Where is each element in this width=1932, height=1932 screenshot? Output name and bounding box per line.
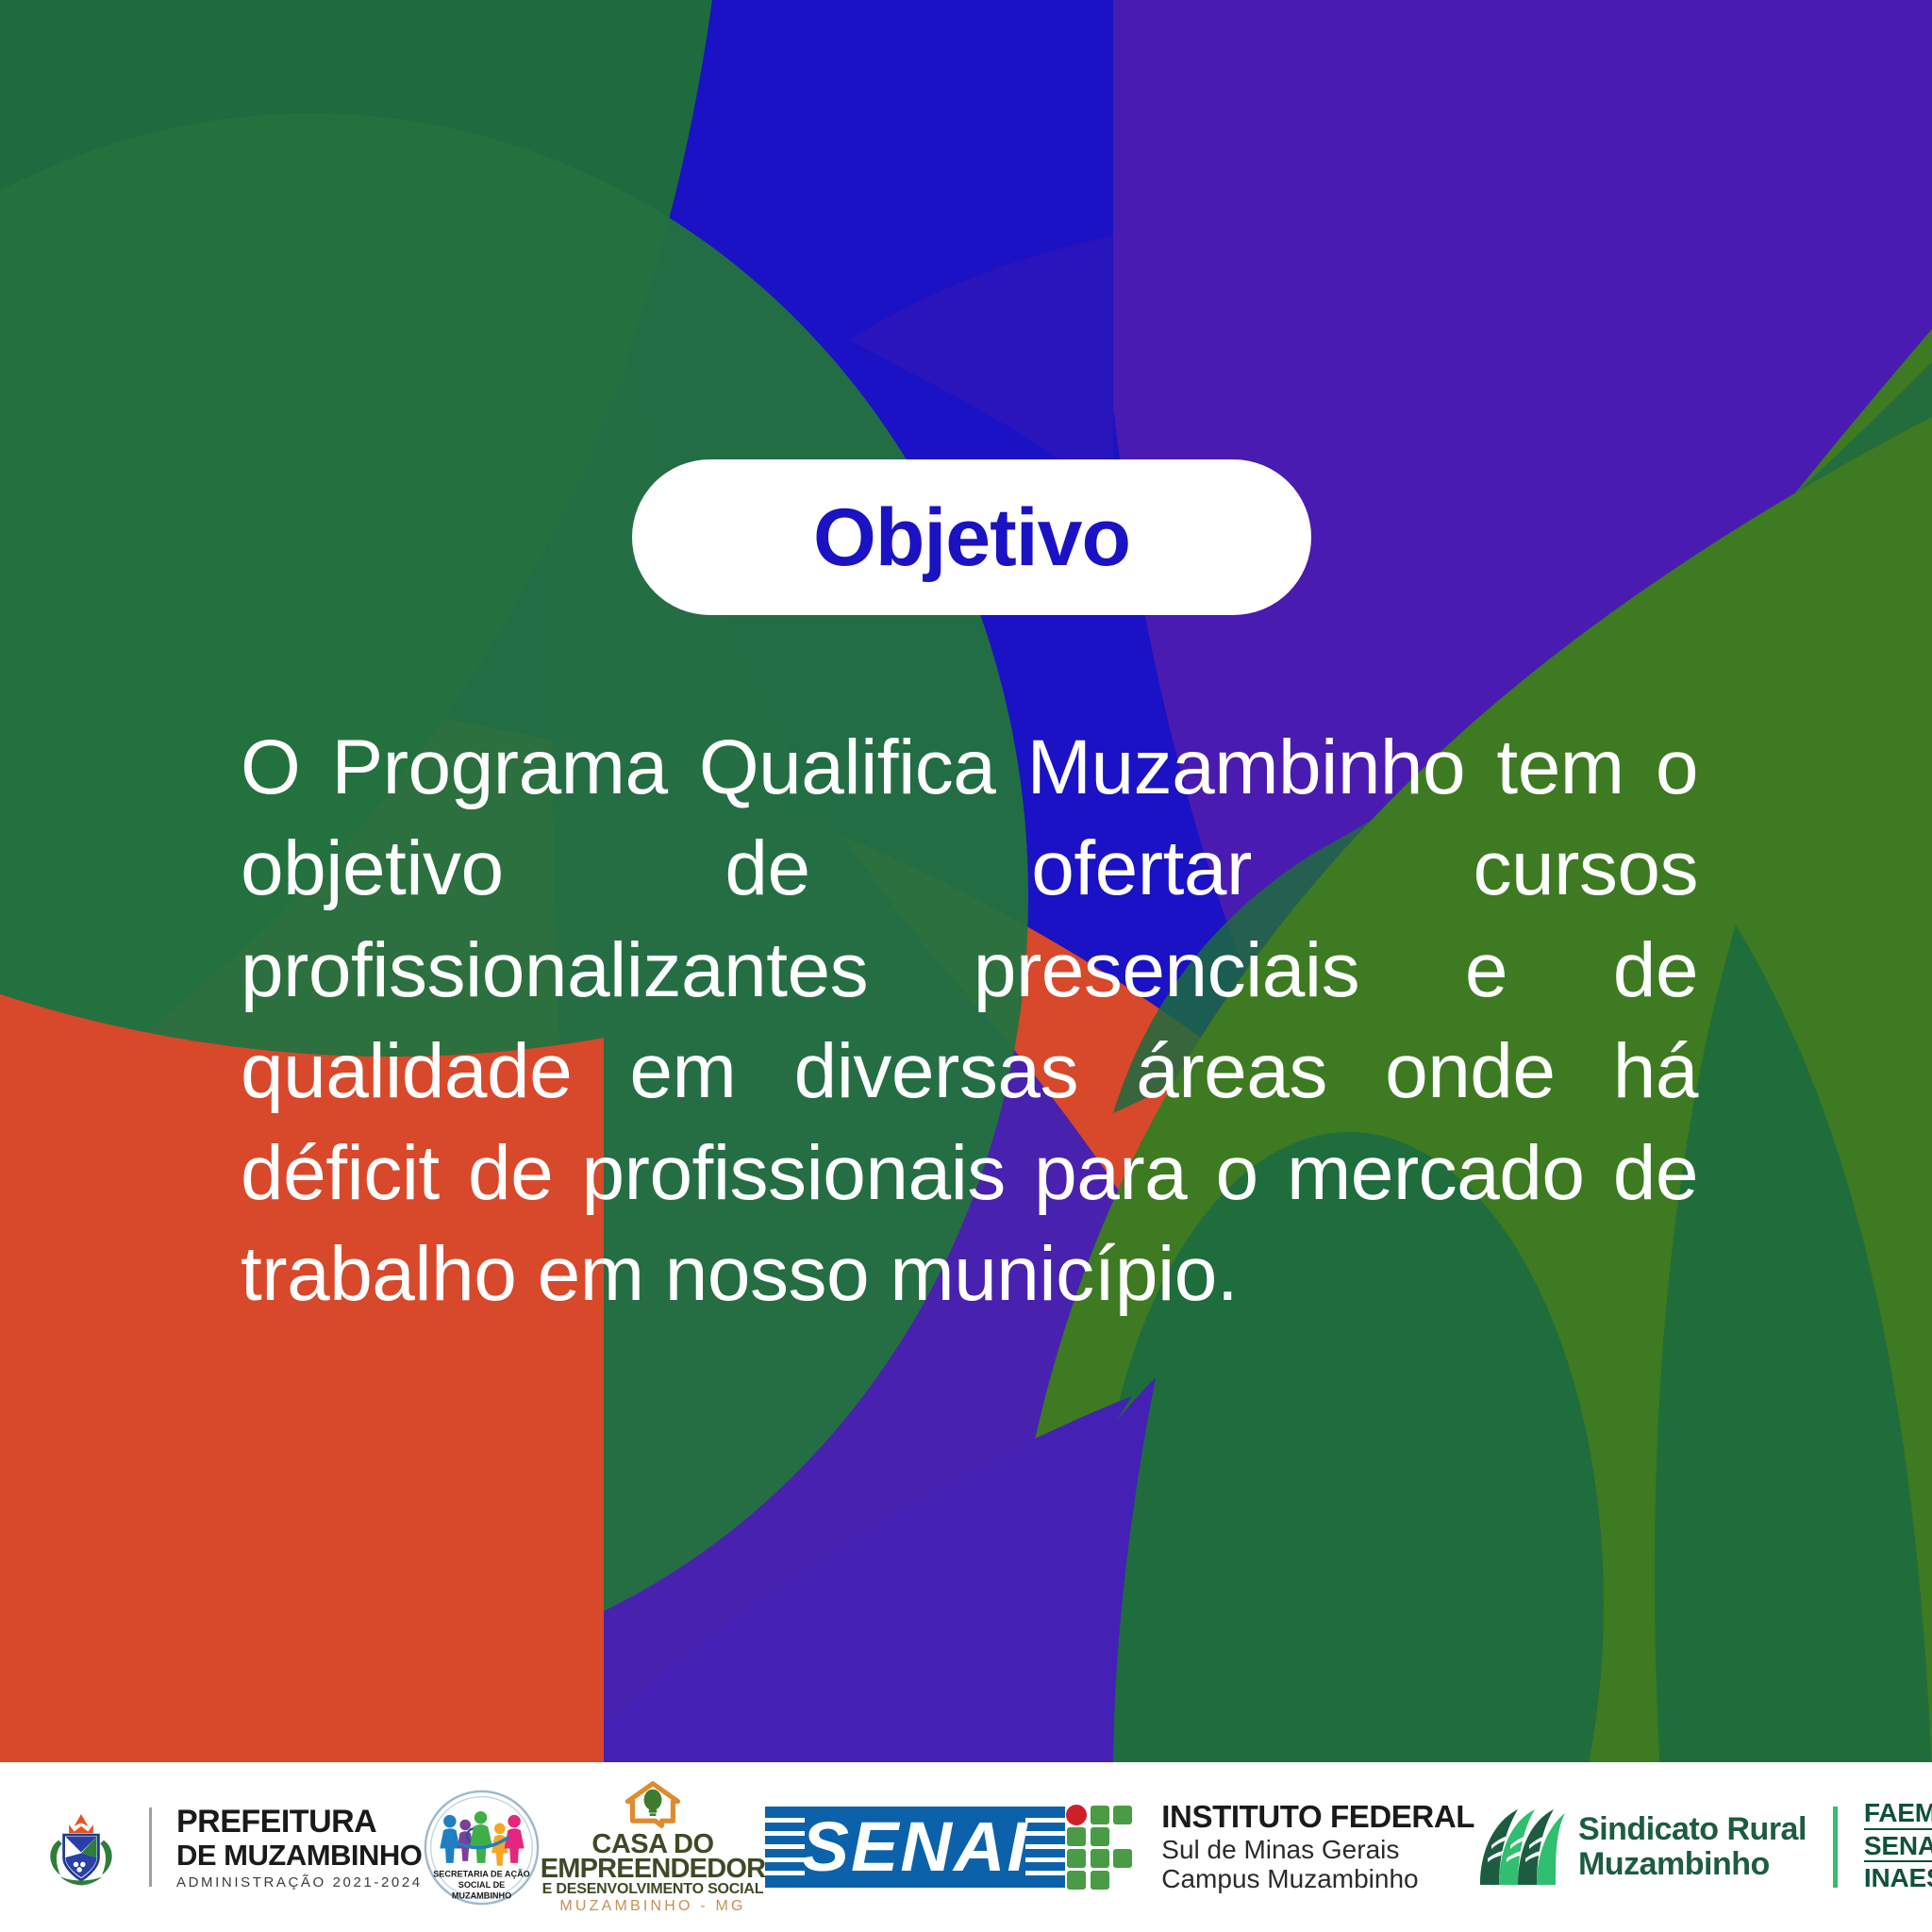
sindicato-badge-faemg: FAEMG bbox=[1864, 1799, 1932, 1829]
senai-left-bars bbox=[765, 1807, 805, 1888]
sindicato-line-1: Sindicato Rural bbox=[1578, 1812, 1807, 1847]
senai-wordmark: SENAI bbox=[802, 1812, 1029, 1882]
divider bbox=[149, 1807, 152, 1887]
prefeitura-line-1: PREFEITURA bbox=[176, 1806, 423, 1838]
logo-prefeitura-muzambinho: PREFEITURA DE MUZAMBINHO ADMINISTRAÇÃO 2… bbox=[38, 1804, 423, 1890]
senai-right-bars bbox=[1025, 1807, 1065, 1888]
logo-sindicato-rural: Sindicato Rural Muzambinho FAEMG SENAR I… bbox=[1474, 1799, 1932, 1894]
senai-badge: SENAI bbox=[765, 1807, 1065, 1888]
house-lightbulb-icon bbox=[625, 1780, 681, 1829]
secretaria-line-2: SOCIAL DE bbox=[458, 1879, 505, 1889]
logo-secretaria-acao-social: SECRETARIA DE AÇÃO SOCIAL DE MUZAMBINHO bbox=[423, 1789, 541, 1907]
sindicato-divider bbox=[1833, 1807, 1838, 1888]
logo-instituto-federal: INSTITUTO FEDERAL Sul de Minas Gerais Ca… bbox=[1065, 1800, 1474, 1894]
sindicato-badge-inaes: INAES bbox=[1864, 1864, 1932, 1892]
body-paragraph: O Programa Qualifica Muzambinho tem o ob… bbox=[241, 717, 1698, 1324]
instituto-federal-mark-icon bbox=[1065, 1804, 1146, 1890]
heading-pill: Objetivo bbox=[632, 459, 1311, 615]
prefeitura-line-3: ADMINISTRAÇÃO 2021-2024 bbox=[176, 1875, 423, 1890]
casa-line-2: EMPREENDEDOR bbox=[541, 1856, 766, 1883]
instituto-federal-line-2: Sul de Minas Gerais bbox=[1161, 1835, 1474, 1864]
poster-canvas: Objetivo O Programa Qualifica Muzambinho… bbox=[0, 0, 1932, 1932]
sindicato-badge-senar: SENAR bbox=[1864, 1832, 1932, 1862]
coat-of-arms-icon bbox=[38, 1804, 125, 1890]
logo-casa-do-empreendedor: CASA DO EMPREENDEDOR E DESENVOLVIMENTO S… bbox=[541, 1780, 766, 1914]
page-title: Objetivo bbox=[813, 497, 1130, 578]
logo-senai: SENAI bbox=[765, 1807, 1065, 1888]
wheat-leaf-icon bbox=[1474, 1806, 1565, 1889]
secretaria-seal-icon: SECRETARIA DE AÇÃO SOCIAL DE MUZAMBINHO bbox=[423, 1789, 541, 1907]
sindicato-line-2: Muzambinho bbox=[1578, 1847, 1807, 1882]
secretaria-line-1: SECRETARIA DE AÇÃO bbox=[433, 1869, 530, 1878]
secretaria-line-3: MUZAMBINHO bbox=[452, 1890, 511, 1900]
instituto-federal-line-3: Campus Muzambinho bbox=[1161, 1864, 1474, 1893]
instituto-federal-line-1: INSTITUTO FEDERAL bbox=[1161, 1800, 1474, 1835]
partner-logo-bar: PREFEITURA DE MUZAMBINHO ADMINISTRAÇÃO 2… bbox=[0, 1762, 1932, 1932]
casa-line-3: E DESENVOLVIMENTO SOCIAL bbox=[542, 1882, 764, 1897]
casa-line-4: MUZAMBINHO - MG bbox=[559, 1899, 745, 1914]
body-paragraph-text: O Programa Qualifica Muzambinho tem o ob… bbox=[241, 724, 1698, 1317]
prefeitura-line-2: DE MUZAMBINHO bbox=[176, 1840, 423, 1870]
